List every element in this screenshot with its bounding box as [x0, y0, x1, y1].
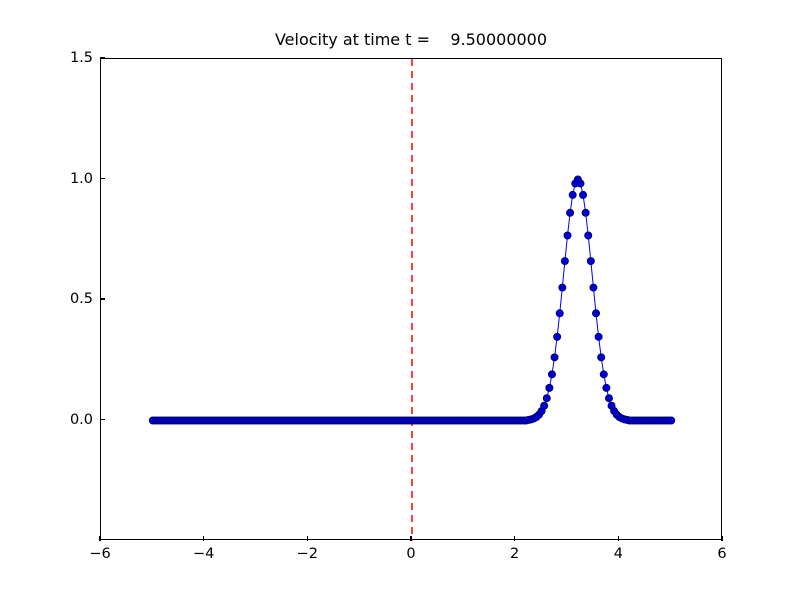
data-point-marker [546, 384, 553, 391]
data-point-marker [541, 402, 548, 409]
x-tick-mark [99, 536, 100, 541]
data-point-marker [554, 333, 561, 340]
x-tick-label: 4 [614, 546, 623, 562]
plot-axes-frame [100, 58, 722, 540]
data-point-marker [556, 310, 563, 317]
data-point-marker [605, 395, 612, 402]
data-point-marker [567, 209, 574, 216]
data-point-marker [603, 384, 610, 391]
x-tick-mark [203, 536, 204, 541]
y-tick-label: 0.0 [70, 412, 93, 428]
x-tick-label: −4 [193, 546, 214, 562]
x-axis-tick-labels: −6−4−20246 [100, 546, 722, 570]
data-point-marker [593, 310, 600, 317]
x-tick-mark [618, 536, 619, 541]
y-tick-mark [100, 419, 105, 420]
x-tick-mark [514, 536, 515, 541]
y-axis-tick-labels: 0.00.51.01.5 [55, 58, 93, 540]
data-point-marker [582, 209, 589, 216]
data-point-marker [564, 232, 571, 239]
x-tick-mark [410, 536, 411, 541]
data-point-marker [548, 371, 555, 378]
data-point-marker [585, 232, 592, 239]
y-tick-label: 0.5 [70, 291, 93, 307]
data-point-marker [551, 354, 558, 361]
y-tick-mark [100, 178, 105, 179]
data-point-marker [559, 284, 566, 291]
x-axis-tick-marks [100, 535, 722, 541]
x-tick-label: 2 [510, 546, 519, 562]
data-point-marker [668, 417, 675, 424]
data-point-marker [569, 191, 576, 198]
data-point-marker [580, 191, 587, 198]
y-tick-label: 1.5 [70, 50, 93, 66]
y-tick-mark [100, 298, 105, 299]
page-title: Velocity at time t = 9.50000000 [100, 30, 722, 50]
x-tick-label: −6 [89, 546, 110, 562]
data-point-marker [561, 258, 568, 265]
data-point-marker [595, 333, 602, 340]
y-axis-tick-marks [100, 58, 106, 540]
x-tick-mark [307, 536, 308, 541]
data-point-marker [577, 180, 584, 187]
data-point-marker [600, 371, 607, 378]
y-tick-label: 1.0 [70, 171, 93, 187]
y-tick-mark [100, 57, 105, 58]
plot-canvas [101, 59, 723, 541]
x-tick-label: 0 [406, 546, 415, 562]
data-point-marker [543, 395, 550, 402]
x-tick-label: 6 [717, 546, 726, 562]
x-tick-mark [721, 536, 722, 541]
matplotlib-figure: Velocity at time t = 9.50000000 0.00.51.… [0, 0, 800, 600]
data-point-marker [590, 284, 597, 291]
data-point-marker [587, 258, 594, 265]
x-tick-label: −2 [297, 546, 318, 562]
data-point-marker [598, 354, 605, 361]
